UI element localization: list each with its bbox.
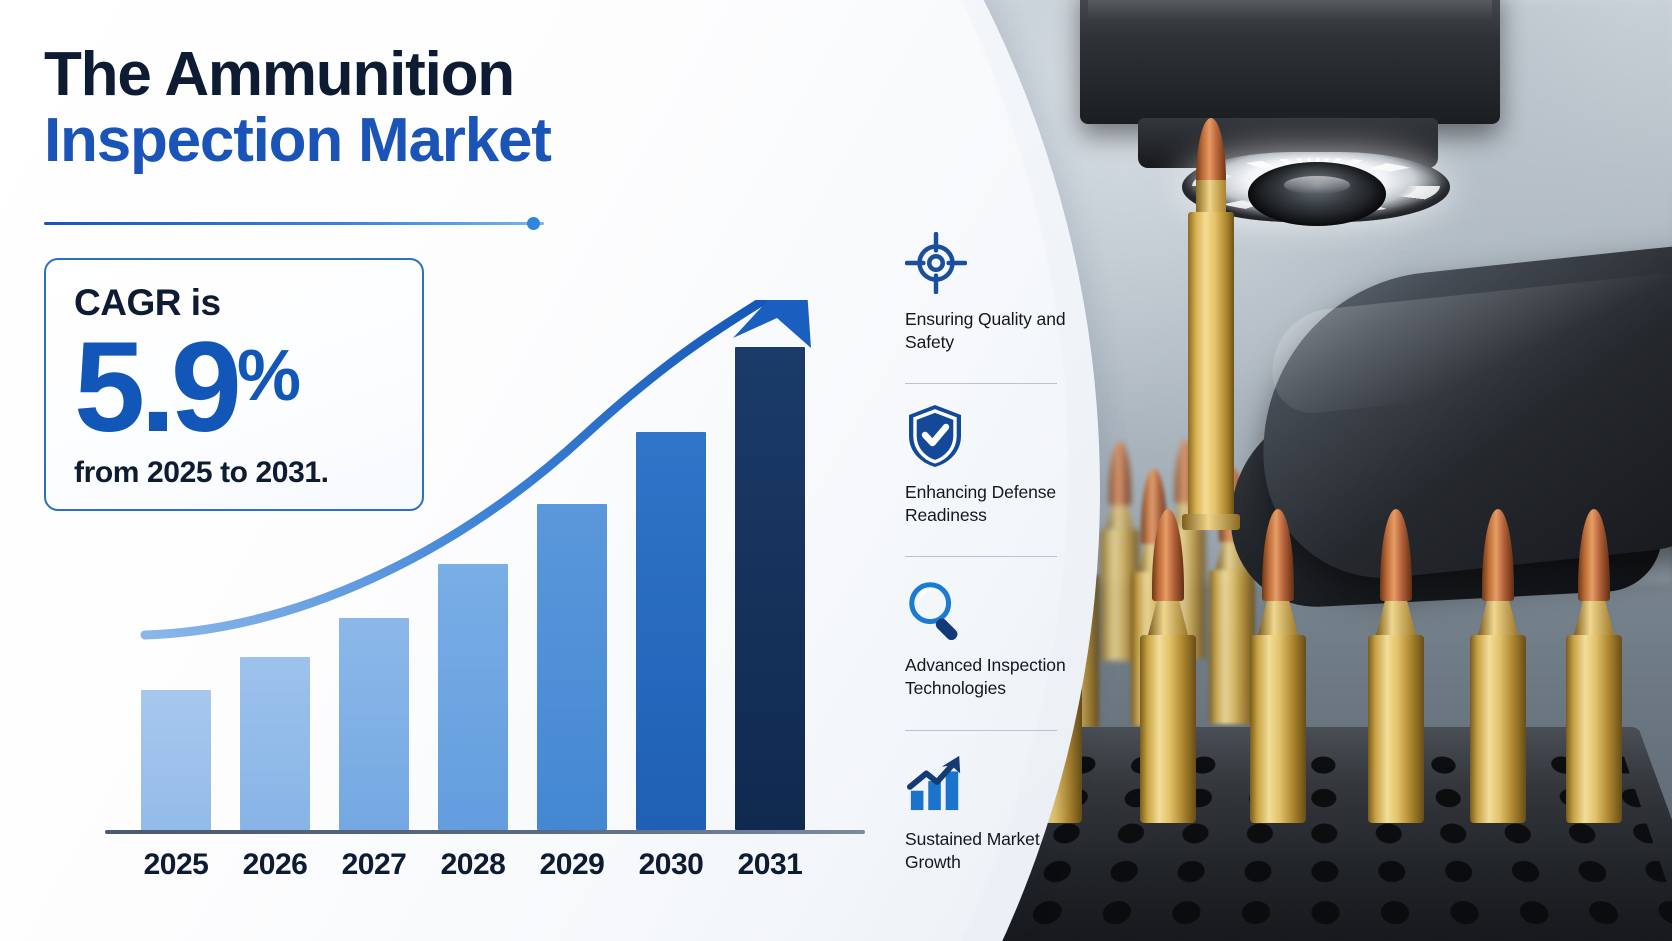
title-divider <box>44 222 544 225</box>
cartridge-front <box>1250 635 1306 823</box>
feature-separator <box>905 730 1057 731</box>
shield-check-icon <box>905 401 1080 471</box>
bar-2031 <box>735 347 805 830</box>
growth-bar-chart-icon <box>905 748 1080 818</box>
magnifying-glass-icon <box>905 574 1080 644</box>
chart-x-labels: 2025 2026 2027 2028 2029 2030 2031 <box>105 848 875 892</box>
feature-item-growth: Sustained Market Growth <box>905 748 1080 886</box>
bar-2030 <box>636 432 706 830</box>
page-title: The Ammunition Inspection Market <box>44 42 804 173</box>
cartridge-midground <box>1209 570 1255 724</box>
feature-label-technologies: Advanced Inspection Technologies <box>905 654 1080 700</box>
x-label-2030: 2030 <box>621 848 721 882</box>
chart-bars <box>105 310 875 830</box>
feature-label-quality: Ensuring Quality and Safety <box>905 308 1080 354</box>
title-line-2: Inspection Market <box>44 108 804 174</box>
x-label-2031: 2031 <box>720 848 820 882</box>
bar-2029 <box>537 504 607 830</box>
x-label-2028: 2028 <box>423 848 523 882</box>
feature-separator <box>905 383 1057 384</box>
cartridge-front <box>1566 635 1622 823</box>
cartridge-front <box>1140 635 1196 823</box>
cartridge-front <box>1470 635 1526 823</box>
divider-dot <box>527 217 540 230</box>
bar-2025 <box>141 690 211 830</box>
bar-2026 <box>240 657 310 830</box>
feature-separator <box>905 556 1057 557</box>
bar-2027 <box>339 618 409 830</box>
market-growth-bar-chart: 2025 2026 2027 2028 2029 2030 2031 <box>105 300 875 920</box>
chart-x-axis <box>105 830 865 834</box>
x-label-2025: 2025 <box>126 848 226 882</box>
title-line-1: The Ammunition <box>44 42 804 108</box>
microscope-lens <box>1248 162 1386 226</box>
microscope-body <box>1080 0 1500 124</box>
x-label-2026: 2026 <box>225 848 325 882</box>
feature-label-growth: Sustained Market Growth <box>905 828 1080 874</box>
feature-item-quality: Ensuring Quality and Safety <box>905 228 1080 366</box>
feature-item-technologies: Advanced Inspection Technologies <box>905 574 1080 712</box>
feature-label-defense: Enhancing Defense Readiness <box>905 481 1080 527</box>
x-label-2027: 2027 <box>324 848 424 882</box>
feature-list: Ensuring Quality and Safety Enhancing De… <box>905 228 1080 886</box>
infographic-canvas: The Ammunition Inspection Market CAGR is… <box>0 0 1672 941</box>
target-crosshair-icon <box>905 228 1080 298</box>
bar-2028 <box>438 564 508 830</box>
cartridge-front <box>1368 635 1424 823</box>
held-cartridge-case <box>1188 212 1234 530</box>
feature-item-defense: Enhancing Defense Readiness <box>905 401 1080 539</box>
x-label-2029: 2029 <box>522 848 622 882</box>
held-cartridge-rim <box>1182 514 1240 530</box>
